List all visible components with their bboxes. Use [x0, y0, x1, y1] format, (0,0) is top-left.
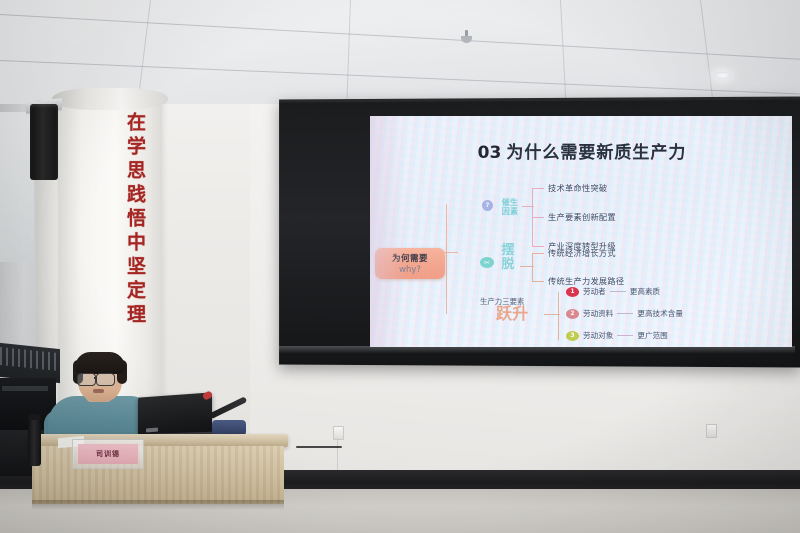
nameplate-holder: 司训锡: [72, 439, 144, 469]
presenter-nameplate: 司训锡: [78, 444, 138, 464]
window-light: [0, 112, 34, 262]
branch-2-item-0: 传统经济增长方式: [548, 247, 616, 259]
presenter-hair: [75, 352, 125, 374]
tri-row-0-label: 劳动者: [583, 286, 606, 297]
scissors-circle-icon: ✂: [480, 257, 494, 268]
slide-title-text: 为什么需要新质生产力: [506, 143, 686, 163]
eyeglasses-left-lens: [77, 373, 96, 386]
rack-unit: [2, 386, 48, 391]
branch-3-stub: [544, 314, 560, 315]
foreground-microphone[interactable]: [28, 420, 41, 466]
branch-3-key: 跃升: [496, 306, 529, 323]
branch-2-stub: [520, 266, 534, 267]
branch-3-spine: [558, 292, 559, 340]
eyeglasses-bridge: [94, 377, 97, 379]
sprinkler-head-icon: [461, 30, 472, 44]
presentation-slide: 03 为什么需要新质生产力 为何需要 why? ? 催生因素 技术革命性突破 生…: [370, 116, 792, 347]
laptop-logo: [146, 428, 158, 433]
eyeglasses-right-lens: [96, 373, 115, 386]
branch-1-item-0: 技术革命性突破: [548, 182, 607, 194]
tri-row-0-detail: 更高素质: [630, 286, 660, 297]
podium-front-panel: [32, 446, 284, 504]
column-cap: [52, 88, 168, 110]
outlet-wire: [337, 438, 338, 470]
number-badge-2: 2: [566, 309, 579, 319]
slide-light-falloff: [370, 116, 406, 347]
wall-speaker: [30, 104, 58, 180]
tri-row-1-label: 劳动资料: [583, 308, 613, 319]
tri-row-1-detail: 更高技术含量: [637, 308, 683, 319]
branch-2-key: 摆脱: [500, 244, 516, 271]
branch-2-spine: [532, 253, 533, 281]
wall-outlet-right[interactable]: [706, 424, 717, 438]
wall-outlet-left[interactable]: [333, 426, 344, 440]
number-badge-3: 3: [566, 331, 579, 341]
tri-row-0: 1 劳动者 更高素质: [566, 286, 660, 297]
presenter-mouth: [93, 389, 104, 393]
desk-cable: [296, 446, 342, 448]
trunk-line: [446, 204, 447, 314]
slide-title-number: 03: [478, 143, 502, 163]
tri-row-2: 3 劳动对象 更广范围: [566, 330, 668, 341]
number-badge-1: 1: [566, 287, 579, 297]
podium-shadow: [32, 500, 284, 510]
screen-bezel-highlight: [279, 346, 795, 354]
tri-row-2-detail: 更广范围: [637, 330, 667, 341]
recessed-downlight-icon: [714, 72, 731, 79]
tri-row-2-label: 劳动对象: [583, 330, 613, 341]
lecture-room-photo: 在学思践悟中坚定理 03 为什么需要新质生产力 为何需要 why? ? 催生因素…: [0, 0, 800, 533]
question-circle-icon: ?: [482, 200, 493, 211]
branch-1-stub: [522, 206, 534, 207]
branch-1-key: 催生因素: [498, 198, 522, 216]
tri-row-1: 2 劳动资料 更高技术含量: [566, 308, 683, 319]
branch-1-item-1: 生产要素创新配置: [548, 211, 616, 223]
slide-title: 03 为什么需要新质生产力: [396, 138, 768, 163]
